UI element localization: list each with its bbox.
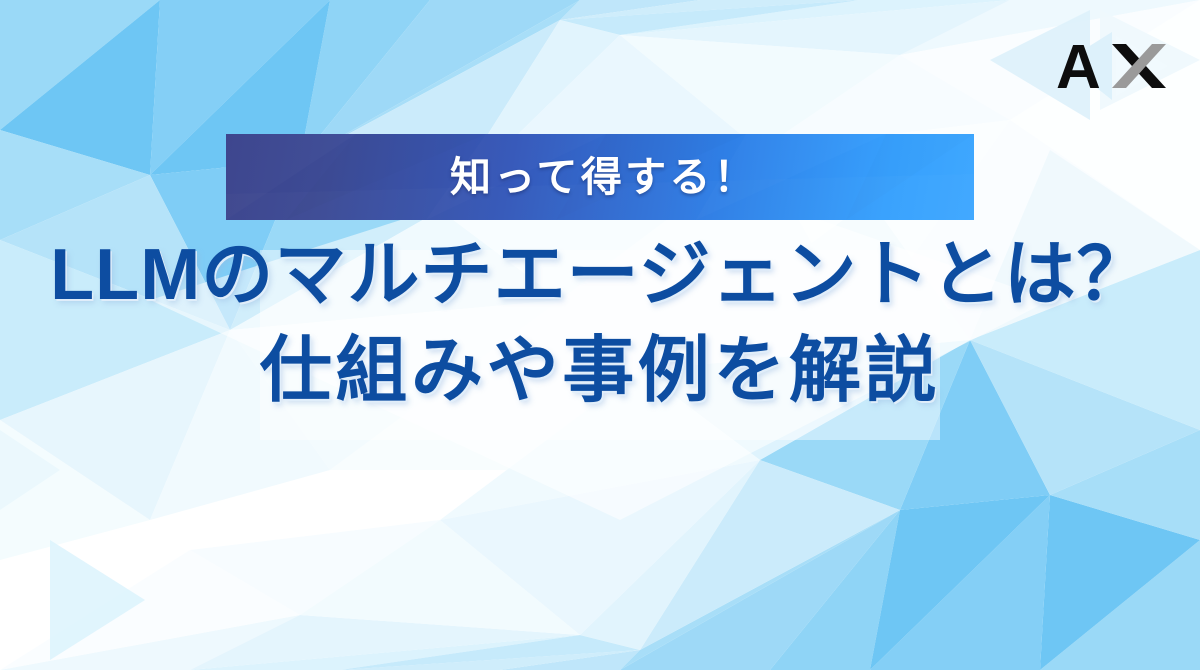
ax-logo: A xyxy=(1050,26,1180,106)
ribbon-label: 知って得する！ xyxy=(450,157,758,198)
ribbon-banner: 知って得する！ xyxy=(226,134,974,220)
eyecatch-canvas: A 知って得する！ LLMのマルチエージェントとは？ 仕組みや事例を解説 xyxy=(0,0,1200,670)
background-polygon-pattern xyxy=(0,0,1200,670)
logo-letter-a: A xyxy=(1056,33,1101,102)
